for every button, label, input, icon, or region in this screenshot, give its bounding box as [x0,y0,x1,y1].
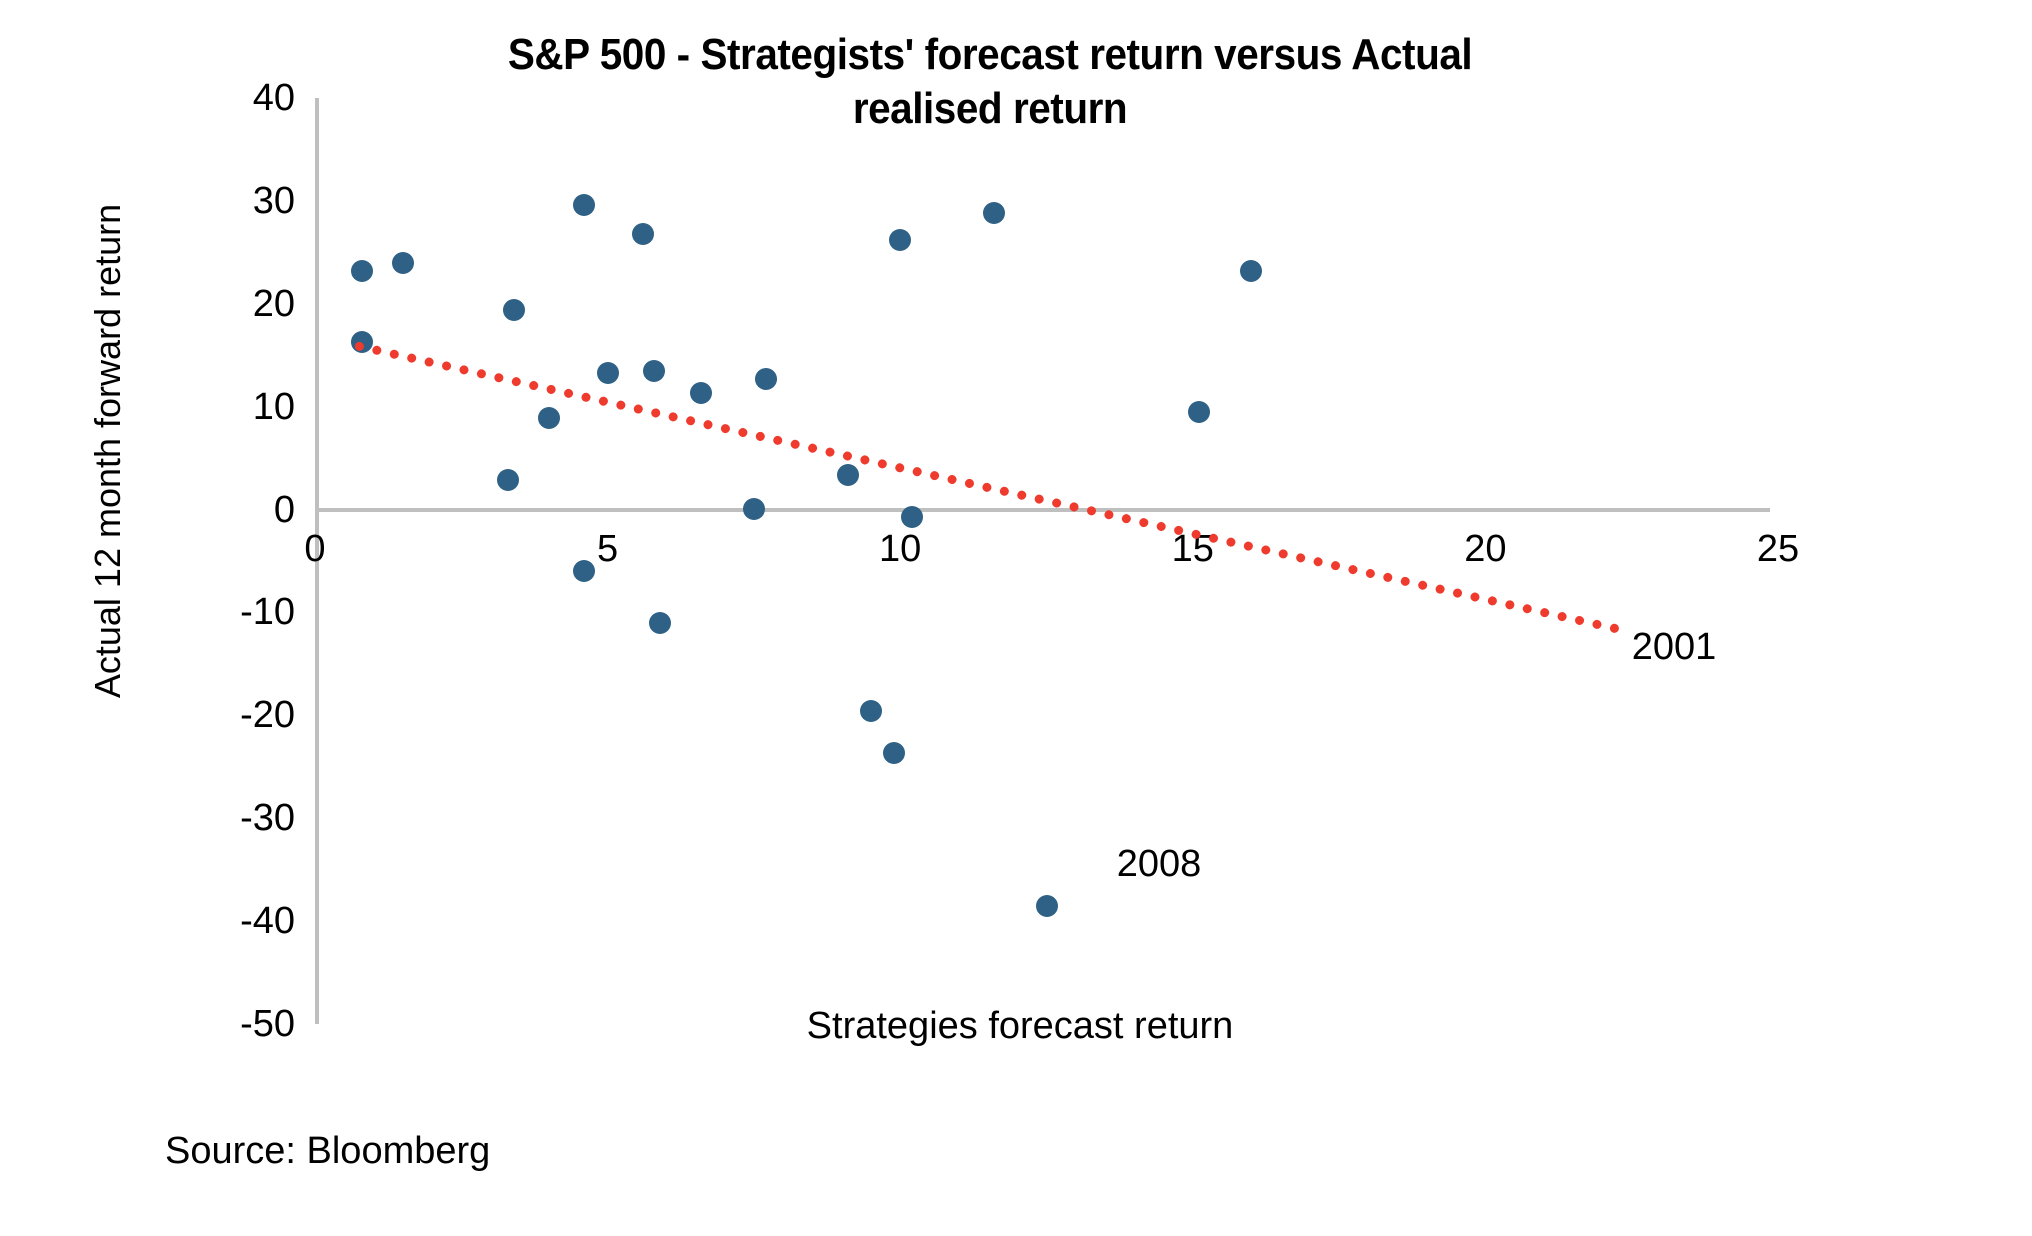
scatter-point [597,362,619,384]
y-tick-label: -20 [175,696,295,734]
y-tick-label: 40 [175,79,295,117]
chart-canvas: S&P 500 - Strategists' forecast return v… [0,0,2032,1236]
scatter-point [573,560,595,582]
data-annotation: 2008 [1117,843,1202,886]
y-tick-label: 20 [175,285,295,323]
data-annotation: 2001 [1632,626,1717,669]
scatter-point [837,464,859,486]
scatter-point [889,229,911,251]
scatter-point [1240,260,1262,282]
scatter-point [901,506,923,528]
scatter-point [573,194,595,216]
y-tick-label: -10 [175,593,295,631]
scatter-point [690,382,712,404]
y-axis-title: Actual 12 month forward return [87,101,129,801]
y-tick-label: -30 [175,799,295,837]
scatter-point [983,202,1005,224]
scatter-point [883,742,905,764]
y-tick-label: 0 [175,491,295,529]
scatter-point [643,360,665,382]
y-tick-label: 10 [175,388,295,426]
source-note: Source: Bloomberg [165,1130,490,1173]
scatter-point [503,299,525,321]
scatter-point [1036,895,1058,917]
scatter-point [392,252,414,274]
y-tick-label: -50 [175,1005,295,1043]
scatter-point [649,612,671,634]
scatter-point [351,260,373,282]
scatter-point [860,700,882,722]
chart-title-line-1: S&P 500 - Strategists' forecast return v… [508,30,1472,79]
scatter-point [538,407,560,429]
scatter-point [755,368,777,390]
scatter-point [497,469,519,491]
scatter-point [1188,401,1210,423]
y-tick-label: -40 [175,902,295,940]
scatter-point [743,498,765,520]
trendline [354,341,1620,634]
scatter-point [632,223,654,245]
y-tick-label: 30 [175,182,295,220]
plot-area [315,98,1778,1024]
